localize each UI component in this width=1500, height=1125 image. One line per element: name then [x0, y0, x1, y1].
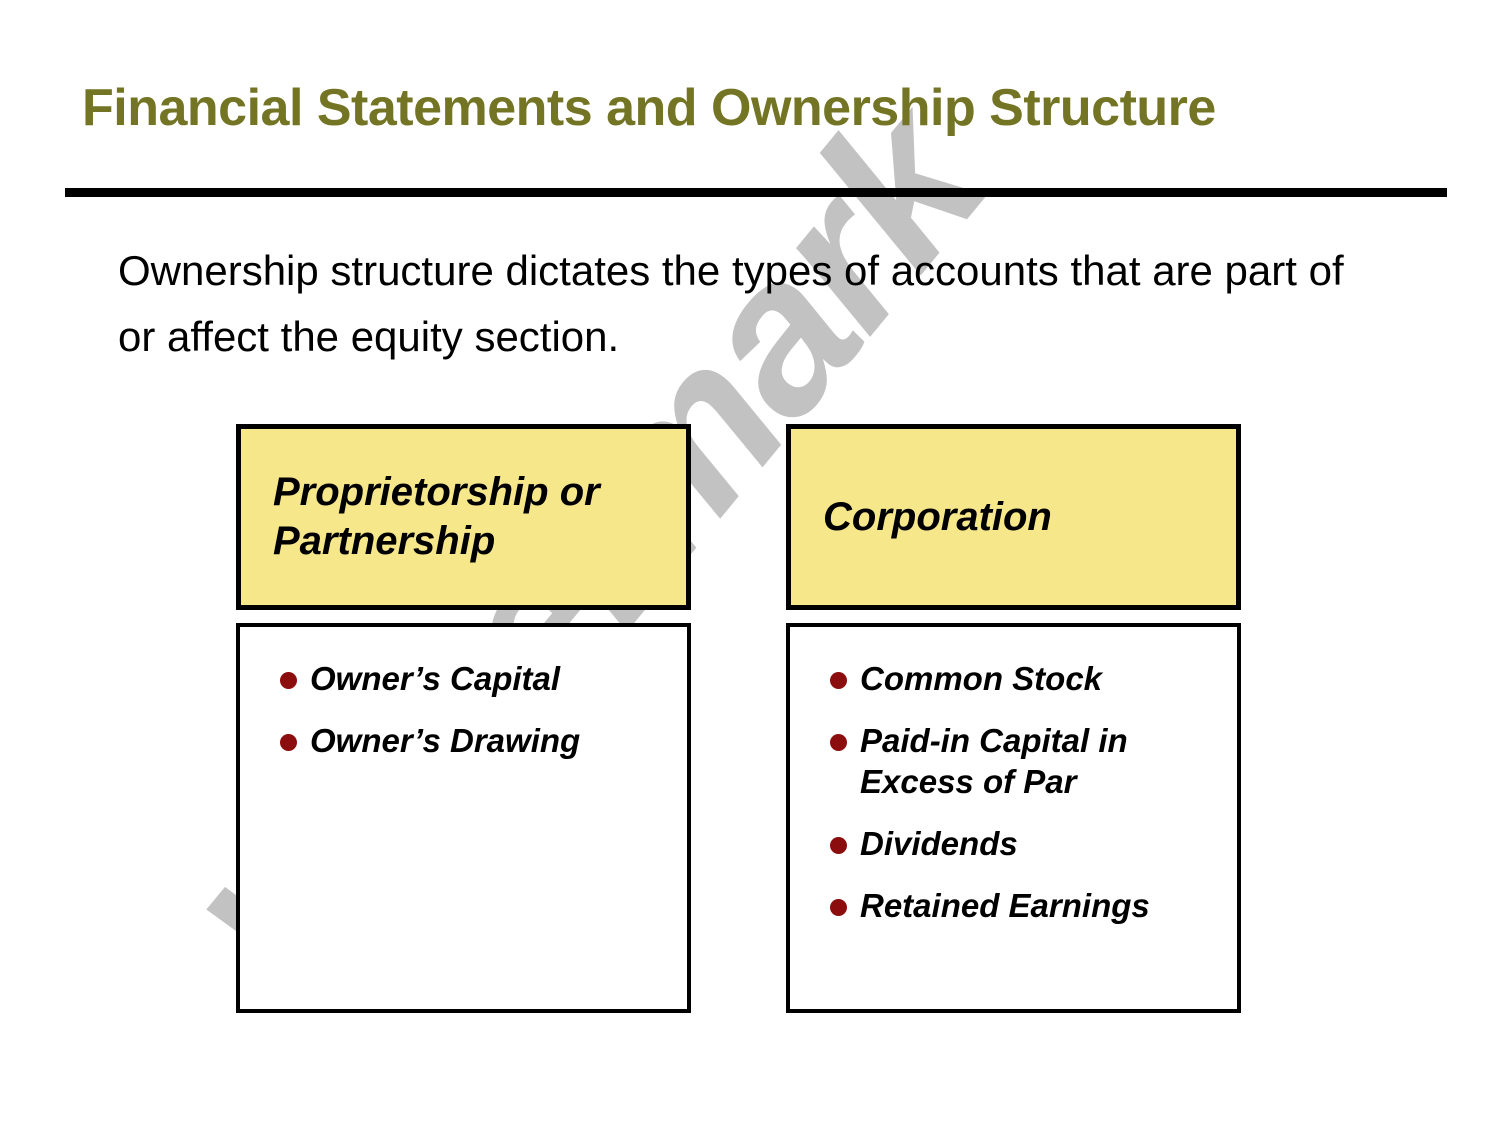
column-header-proprietorship-partnership: Proprietorship or Partnership [236, 424, 691, 610]
title-divider-rule [65, 188, 1447, 197]
list-item: Owner’s Drawing [254, 721, 669, 761]
bullet-dot-icon [830, 672, 847, 689]
list-item-label: Retained Earnings [860, 887, 1150, 924]
account-list-corporation: Common Stock Paid-in Capital in Excess o… [804, 659, 1219, 926]
account-list-proprietorship-partnership: Owner’s Capital Owner’s Drawing [254, 659, 669, 762]
bullet-dot-icon [280, 734, 297, 751]
list-item: Paid-in Capital in Excess of Par [804, 721, 1219, 802]
page-title: Financial Statements and Ownership Struc… [82, 78, 1422, 138]
list-item: Dividends [804, 824, 1219, 864]
column-body-proprietorship-partnership: Owner’s Capital Owner’s Drawing [236, 623, 691, 1013]
list-item: Retained Earnings [804, 886, 1219, 926]
column-proprietorship-partnership: Proprietorship or Partnership Owner’s Ca… [236, 424, 691, 1013]
bullet-dot-icon [280, 672, 297, 689]
column-corporation: Corporation Common Stock Paid-in Capital… [786, 424, 1241, 1013]
list-item-label: Dividends [860, 825, 1018, 862]
ownership-structure-diagram: Proprietorship or Partnership Owner’s Ca… [0, 0, 1500, 1125]
column-body-corporation: Common Stock Paid-in Capital in Excess o… [786, 623, 1241, 1013]
bullet-dot-icon [830, 734, 847, 751]
bullet-dot-icon [830, 837, 847, 854]
list-item-label: Paid-in Capital in Excess of Par [860, 722, 1128, 799]
list-item-label: Owner’s Capital [310, 660, 560, 697]
column-header-corporation: Corporation [786, 424, 1241, 610]
bullet-dot-icon [830, 899, 847, 916]
list-item-label: Common Stock [860, 660, 1102, 697]
list-item-label: Owner’s Drawing [310, 722, 580, 759]
slide-canvas: Financial Statements and Ownership Struc… [0, 0, 1500, 1125]
list-item: Owner’s Capital [254, 659, 669, 699]
list-item: Common Stock [804, 659, 1219, 699]
